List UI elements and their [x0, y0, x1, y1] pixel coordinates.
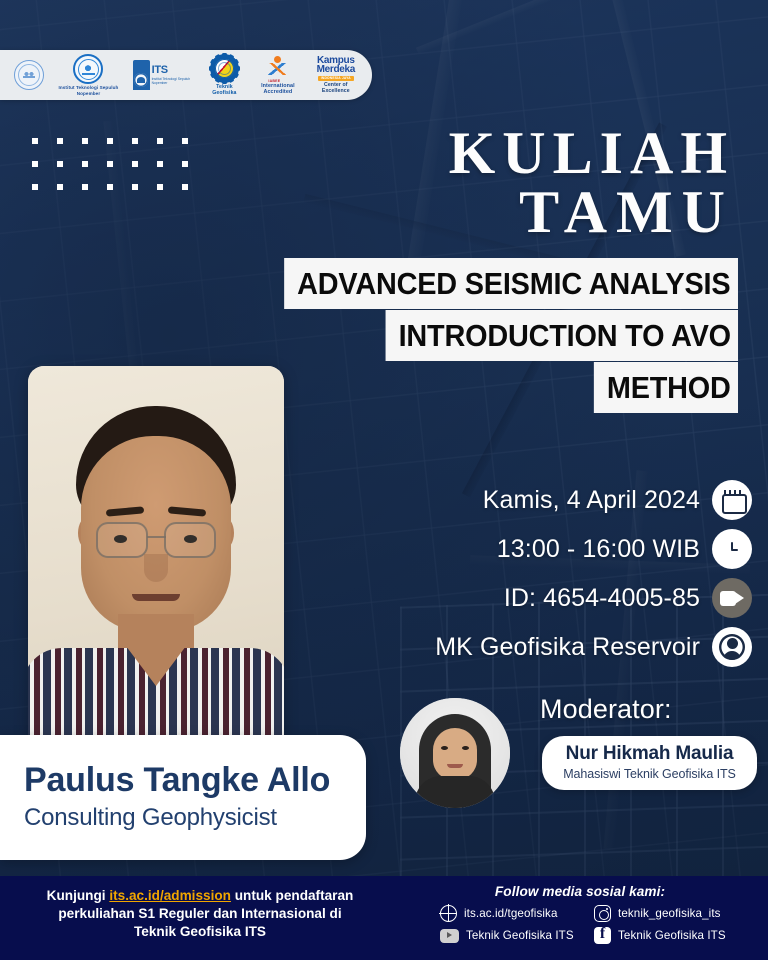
detail-row-course: MK Geofisika Reservoir — [435, 627, 752, 667]
logo-kemendikbud-seal — [14, 60, 44, 90]
speaker-role: Consulting Geophysicist — [24, 804, 366, 832]
social-facebook-handle: Teknik Geofisika ITS — [618, 929, 726, 942]
detail-row-meeting-id: ID: 4654-4005-85 — [504, 578, 752, 618]
moderator-name: Nur Hikmah Maulia — [556, 744, 743, 765]
speaker-name-card: Paulus Tangke Allo Consulting Geophysici… — [0, 735, 366, 860]
footer-social: Follow media sosial kami: its.ac.id/tgeo… — [400, 876, 768, 960]
its-seal-icon — [73, 54, 103, 84]
kampus-merdeka-caption: Center of Excellence — [314, 82, 358, 94]
subtitle-line-2: INTRODUCTION TO AVO — [385, 310, 738, 361]
detail-row-time: 13:00 - 16:00 WIB — [497, 529, 752, 569]
event-details: Kamis, 4 April 2024 13:00 - 16:00 WIB ID… — [435, 480, 752, 667]
social-website-handle: its.ac.id/tgeofisika — [464, 907, 558, 920]
social-instagram[interactable]: teknik_geofisika_its — [594, 905, 760, 922]
speaker-name: Paulus Tangke Allo — [24, 763, 366, 799]
speaker-photo — [28, 366, 284, 741]
social-facebook[interactable]: Teknik Geofisika ITS — [594, 927, 760, 944]
subtitle-line-1: ADVANCED SEISMIC ANALYSIS — [284, 258, 738, 309]
footer-admission-info: Kunjungi its.ac.id/admission untuk penda… — [0, 876, 400, 960]
detail-time-text: 13:00 - 16:00 WIB — [497, 535, 700, 564]
iabee-wordmark: IABEE — [268, 79, 280, 83]
globe-icon — [440, 905, 457, 922]
teknik-geofisika-caption: Teknik Geofisika — [207, 84, 243, 96]
social-youtube-handle: Teknik Geofisika ITS — [466, 929, 574, 942]
subtitle-blocks: ADVANCED SEISMIC ANALYSIS INTRODUCTION T… — [250, 258, 738, 413]
social-youtube[interactable]: Teknik Geofisika ITS — [440, 927, 586, 944]
gear-globe-icon — [210, 54, 239, 83]
footer-suffix: untuk pendaftaran — [231, 888, 353, 903]
instagram-icon — [594, 905, 611, 922]
kampus-merdeka-icon: Kampus Merdeka INDONESIA JAYA — [317, 56, 355, 81]
footer-line2: perkuliahan S1 Reguler dan Internasional… — [16, 905, 384, 923]
youtube-icon — [440, 929, 459, 943]
social-website[interactable]: its.ac.id/tgeofisika — [440, 905, 586, 922]
its-seal-caption: Institut Teknologi Sepuluh Nopember — [53, 85, 124, 96]
its-wordmark: ITS — [152, 65, 198, 76]
page-title: KULIAH TAMU — [449, 124, 734, 243]
page-title-line1: KULIAH — [449, 124, 734, 183]
logo-its: ITS Institut Teknologi Sepuluh Nopember — [133, 60, 198, 90]
logo-bar: Institut Teknologi Sepuluh Nopember ITS … — [0, 50, 372, 100]
clock-icon — [712, 529, 752, 569]
moderator-name-card: Nur Hikmah Maulia Mahasiswi Teknik Geofi… — [542, 736, 757, 790]
facebook-icon — [594, 927, 611, 944]
follow-title: Follow media sosial kami: — [400, 884, 760, 899]
its-shield-icon — [133, 60, 150, 90]
iabee-caption: International Accredited — [251, 83, 304, 96]
logo-teknik-geofisika: Teknik Geofisika — [207, 54, 243, 96]
detail-row-date: Kamis, 4 April 2024 — [483, 480, 752, 520]
footer-prefix: Kunjungi — [47, 888, 110, 903]
logo-its-seal: Institut Teknologi Sepuluh Nopember — [53, 54, 124, 96]
footer: Kunjungi its.ac.id/admission untuk penda… — [0, 876, 768, 960]
logo-iabee: IABEE International Accredited — [251, 55, 304, 96]
logo-kampus-merdeka: Kampus Merdeka INDONESIA JAYA Center of … — [314, 56, 358, 94]
calendar-icon — [712, 480, 752, 520]
poster-root: Institut Teknologi Sepuluh Nopember ITS … — [0, 0, 768, 960]
iabee-icon: IABEE — [264, 55, 291, 82]
footer-line3: Teknik Geofisika ITS — [16, 923, 384, 941]
its-subtext: Institut Teknologi Sepuluh Nopember — [152, 77, 198, 85]
decorative-dot-grid — [32, 138, 207, 207]
detail-date-text: Kamis, 4 April 2024 — [483, 486, 700, 515]
detail-meeting-id-text: ID: 4654-4005-85 — [504, 584, 700, 613]
social-instagram-handle: teknik_geofisika_its — [618, 907, 721, 920]
kampus-merdeka-bar: INDONESIA JAYA — [318, 76, 354, 81]
video-camera-icon — [712, 578, 752, 618]
moderator-label: Moderator: — [540, 694, 672, 725]
person-icon — [712, 627, 752, 667]
kampus-merdeka-line2: Merdeka — [317, 65, 355, 75]
admission-link[interactable]: its.ac.id/admission — [109, 888, 231, 903]
page-title-line2: TAMU — [449, 183, 734, 242]
kemendikbud-seal-icon — [14, 60, 44, 90]
detail-course-text: MK Geofisika Reservoir — [435, 633, 700, 662]
moderator-role: Mahasiswi Teknik Geofisika ITS — [556, 767, 743, 781]
subtitle-line-3: METHOD — [594, 362, 738, 413]
moderator-photo — [400, 698, 510, 808]
